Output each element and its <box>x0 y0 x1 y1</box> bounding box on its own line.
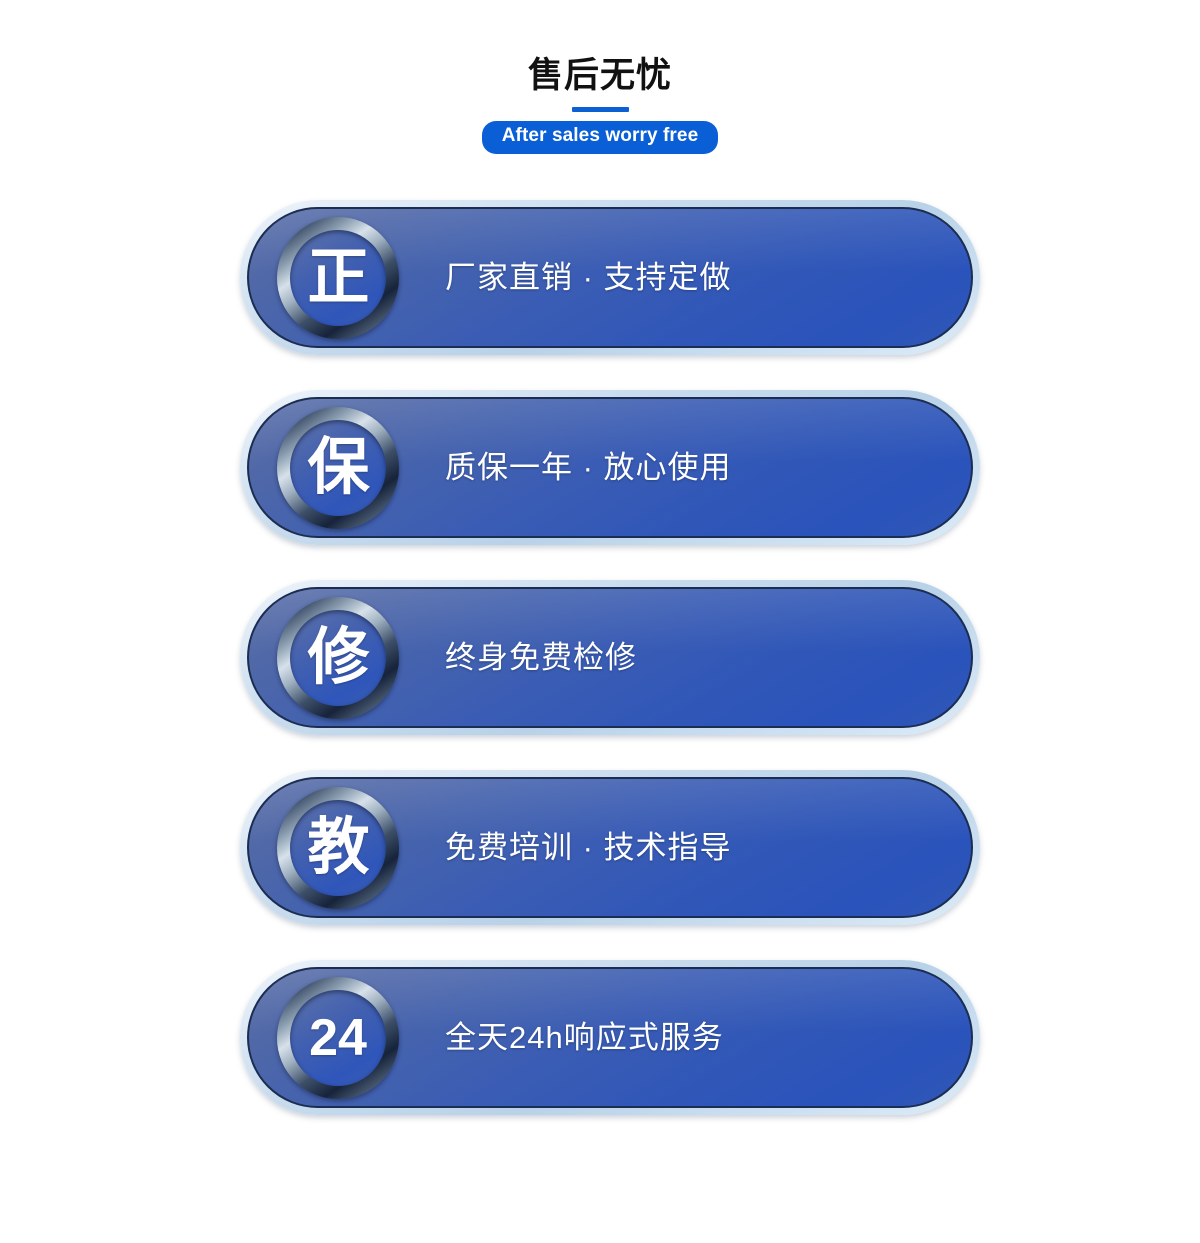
service-pill-body: 24全天24h响应式服务 <box>247 967 973 1108</box>
page-header: 售后无忧 After sales worry free <box>0 0 1200 154</box>
service-label: 终身免费检修 <box>445 639 637 676</box>
service-badge-glyph: 保 <box>307 437 368 499</box>
service-label: 免费培训 · 技术指导 <box>445 829 732 866</box>
service-pill[interactable]: 保质保一年 · 放心使用 <box>240 390 980 545</box>
service-pill-body: 教免费培训 · 技术指导 <box>247 777 973 918</box>
service-badge-icon: 24 <box>277 977 399 1099</box>
service-pill-body: 修终身免费检修 <box>247 587 973 728</box>
service-pill[interactable]: 24全天24h响应式服务 <box>240 960 980 1115</box>
service-badge-glyph: 24 <box>309 1012 367 1064</box>
service-label: 全天24h响应式服务 <box>445 1019 724 1056</box>
service-label: 质保一年 · 放心使用 <box>445 449 732 486</box>
service-pill[interactable]: 修终身免费检修 <box>240 580 980 735</box>
service-list: 正厂家直销 · 支持定做保质保一年 · 放心使用修终身免费检修教免费培训 · 技… <box>240 200 980 1115</box>
service-pill-body: 保质保一年 · 放心使用 <box>247 397 973 538</box>
service-badge-icon: 正 <box>277 217 399 339</box>
service-pill[interactable]: 正厂家直销 · 支持定做 <box>240 200 980 355</box>
service-badge-glyph: 正 <box>307 247 368 309</box>
service-pill[interactable]: 教免费培训 · 技术指导 <box>240 770 980 925</box>
service-badge-glyph: 教 <box>307 817 368 879</box>
service-pill-body: 正厂家直销 · 支持定做 <box>247 207 973 348</box>
title-underline-rule <box>572 107 629 112</box>
service-badge-icon: 修 <box>277 597 399 719</box>
service-label: 厂家直销 · 支持定做 <box>445 259 732 296</box>
service-badge-glyph: 修 <box>307 627 368 689</box>
service-badge-icon: 保 <box>277 407 399 529</box>
page-title: 售后无忧 <box>528 58 672 93</box>
service-badge-icon: 教 <box>277 787 399 909</box>
subtitle-badge: After sales worry free <box>482 121 719 154</box>
